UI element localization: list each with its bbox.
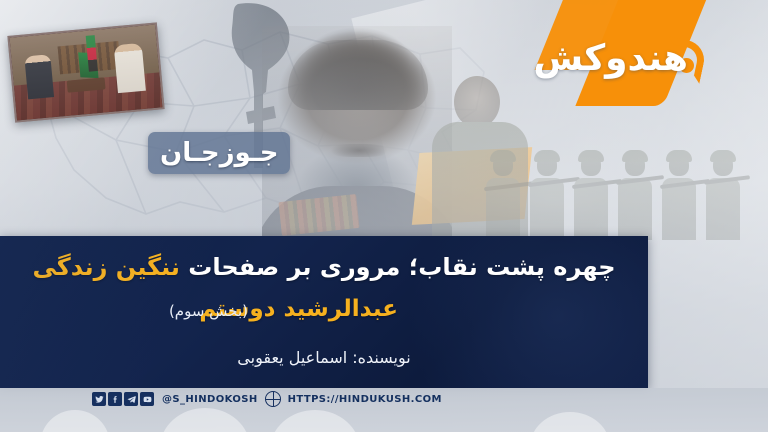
promo-graphic: جـوزجـان هندوکش چهره پشت نقاب؛ مروری بر … xyxy=(0,0,768,432)
inset-meeting-photo xyxy=(7,22,164,122)
author-byline: نویسنده: اسماعیل یعقوبی xyxy=(0,348,648,367)
logo-wordmark: هندوکش xyxy=(533,38,688,79)
article-headline: چهره پشت نقاب؛ مروری بر صفحات ننگین زندگ… xyxy=(22,253,626,281)
social-handle[interactable]: @S_HINDOKOSH xyxy=(162,394,258,405)
youtube-icon[interactable] xyxy=(140,392,154,406)
subject-name: عبدالرشید دوستم xyxy=(199,296,398,322)
globe-icon xyxy=(265,391,281,407)
headline-highlight: ننگین زندگی xyxy=(32,253,179,281)
part-label: (بخش سوم) xyxy=(169,302,248,320)
facebook-icon[interactable] xyxy=(108,392,122,406)
title-banner: چهره پشت نقاب؛ مروری بر صفحات ننگین زندگ… xyxy=(0,236,648,388)
social-links: @S_HINDOKOSH HTTPS://HINDUKUSH.COM xyxy=(92,390,442,408)
province-label-text: جـوزجـان xyxy=(148,138,290,168)
footer-bar: @S_HINDOKOSH HTTPS://HINDUKUSH.COM xyxy=(0,388,768,432)
telegram-icon[interactable] xyxy=(124,392,138,406)
hindukush-logo[interactable]: هندوکش xyxy=(530,0,762,104)
twitter-icon[interactable] xyxy=(92,392,106,406)
subject-row: عبدالرشید دوستم (بخش سوم) xyxy=(0,296,648,340)
headline-prefix: چهره پشت نقاب؛ مروری بر صفحات xyxy=(180,253,616,281)
province-label-jowzjan: جـوزجـان xyxy=(148,132,290,174)
website-url[interactable]: HTTPS://HINDUKUSH.COM xyxy=(288,394,442,405)
